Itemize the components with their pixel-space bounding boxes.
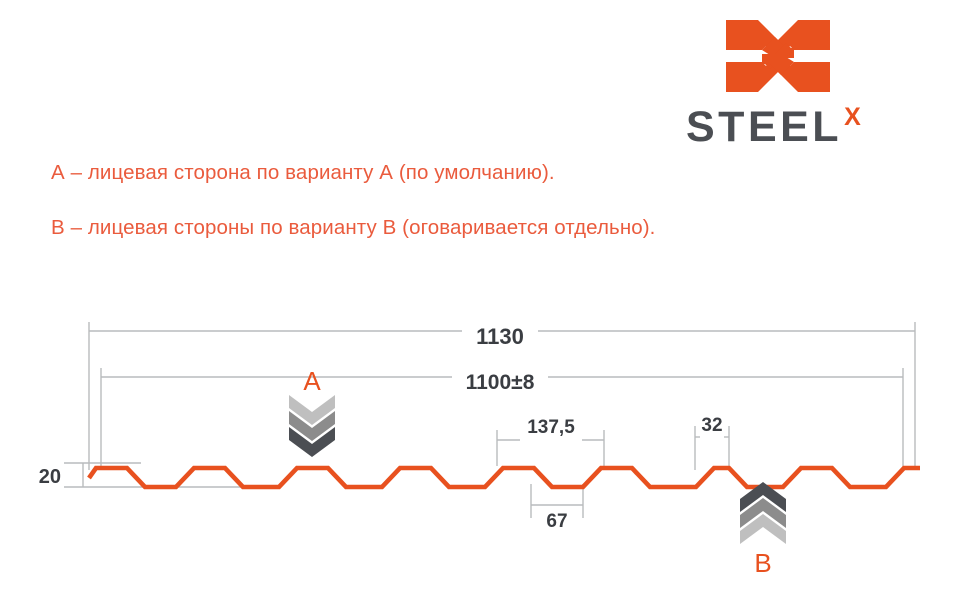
dim-label-valley-width: 67 bbox=[546, 511, 567, 532]
dim-label-pitch: 137,5 bbox=[527, 417, 575, 438]
dim-label-crest-width: 32 bbox=[701, 415, 722, 436]
profile-polyline bbox=[89, 468, 920, 487]
marker-side-a: A bbox=[289, 366, 335, 457]
dim-label-total-width: 1130 bbox=[476, 324, 524, 349]
marker-side-b: B bbox=[740, 482, 786, 578]
marker-a-letter: A bbox=[303, 366, 321, 396]
trapezoidal-profile-shape bbox=[89, 468, 920, 487]
marker-b-letter: B bbox=[754, 548, 771, 578]
dim-label-height: 20 bbox=[39, 466, 61, 488]
profile-technical-drawing: 1130 1100±8 137,5 32 67 20 A bbox=[0, 0, 970, 597]
dim-label-useful-width: 1100±8 bbox=[466, 371, 535, 394]
